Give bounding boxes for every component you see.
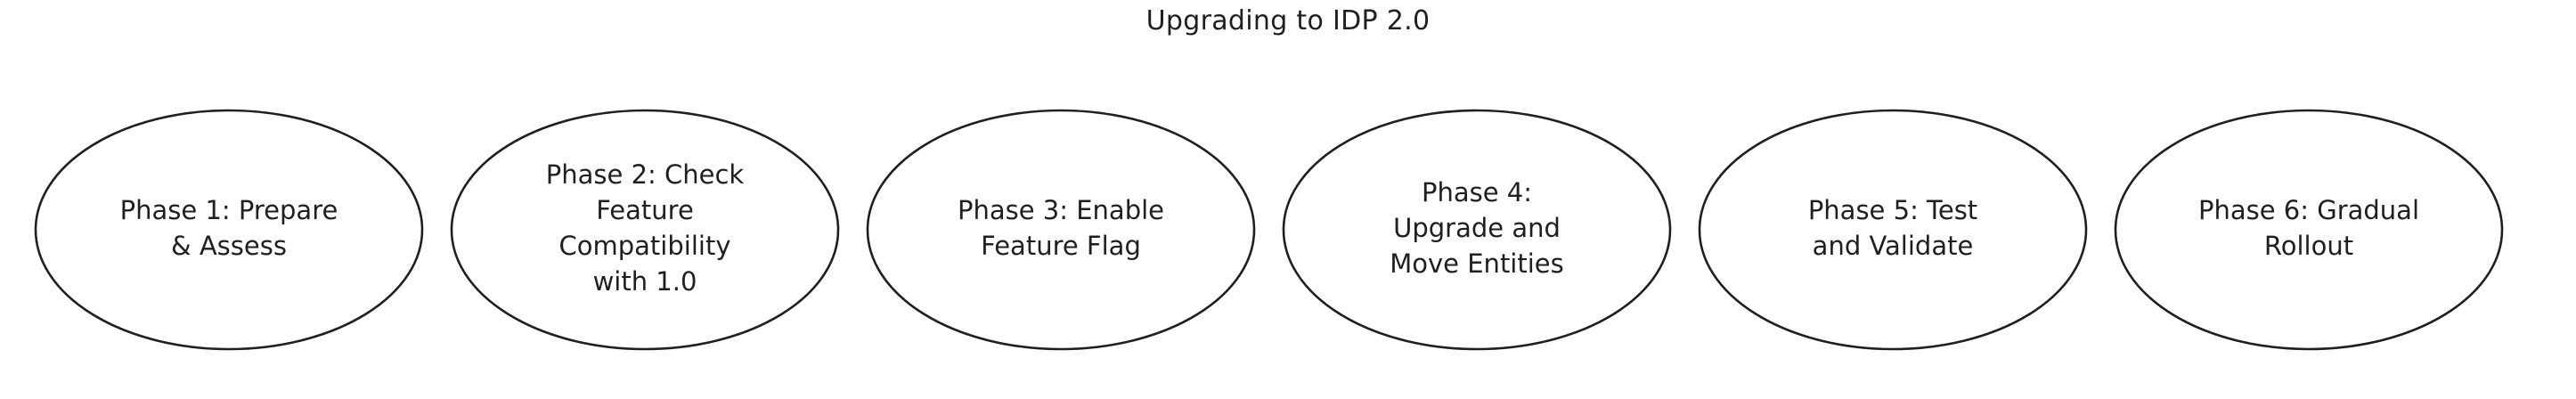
node-label-phase1-line-1: Phase 1: Prepare xyxy=(120,195,338,225)
node-label-phase3-line-2: Feature Flag xyxy=(981,231,1141,261)
flowchart-node-phase4[interactable]: Phase 4:Upgrade andMove Entities xyxy=(1284,110,1670,349)
node-shape-phase3[interactable] xyxy=(868,110,1254,349)
flowchart-node-phase3[interactable]: Phase 3: EnableFeature Flag xyxy=(868,110,1254,349)
node-shape-phase6[interactable] xyxy=(2115,110,2502,349)
flowchart-canvas: Phase 1: Prepare& AssessPhase 2: CheckFe… xyxy=(0,0,2576,399)
flowchart-node-phase1[interactable]: Phase 1: Prepare& Assess xyxy=(36,110,422,349)
node-label-phase1-line-2: & Assess xyxy=(171,231,287,261)
node-label-phase4-line-1: Phase 4: xyxy=(1422,177,1532,208)
flowchart-node-phase6[interactable]: Phase 6: GradualRollout xyxy=(2115,110,2502,349)
flowchart-node-phase5[interactable]: Phase 5: Testand Validate xyxy=(1700,110,2086,349)
nodes-layer: Phase 1: Prepare& AssessPhase 2: CheckFe… xyxy=(36,110,2502,349)
node-label-phase2-line-2: Feature xyxy=(596,195,694,225)
node-shape-phase5[interactable] xyxy=(1700,110,2086,349)
node-label-phase2-line-3: Compatibility xyxy=(559,231,731,261)
node-label-phase3-line-1: Phase 3: Enable xyxy=(958,195,1164,225)
node-label-phase2-line-1: Phase 2: Check xyxy=(546,159,745,190)
node-label-phase5-line-2: and Validate xyxy=(1813,231,1974,261)
node-shape-phase2[interactable] xyxy=(452,110,838,349)
node-label-phase4-line-2: Upgrade and xyxy=(1393,213,1561,243)
flowchart-node-phase2[interactable]: Phase 2: CheckFeatureCompatibilitywith 1… xyxy=(452,110,838,349)
node-label-phase5-line-1: Phase 5: Test xyxy=(1808,195,1977,225)
node-shape-phase1[interactable] xyxy=(36,110,422,349)
node-label-phase6-line-1: Phase 6: Gradual xyxy=(2198,195,2419,225)
node-label-phase4-line-3: Move Entities xyxy=(1390,248,1564,279)
node-label-phase6-line-2: Rollout xyxy=(2264,231,2353,261)
flowchart-diagram: Upgrading to IDP 2.0 Phase 1: Prepare& A… xyxy=(0,0,2576,399)
node-label-phase2-line-4: with 1.0 xyxy=(593,266,697,297)
